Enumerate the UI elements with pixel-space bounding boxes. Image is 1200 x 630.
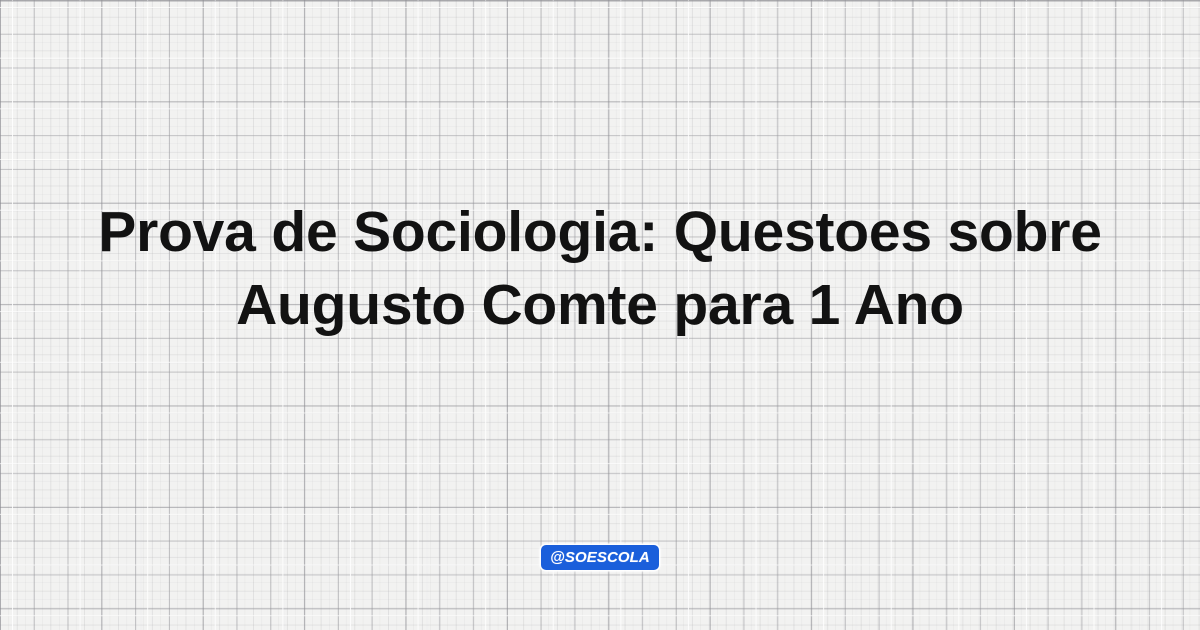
top-edge-rule	[0, 0, 1200, 2]
watermark-badge: @SOESCOLA	[541, 545, 659, 570]
page-title: Prova de Sociologia: Questoes sobre Augu…	[0, 196, 1200, 342]
cover-card: Prova de Sociologia: Questoes sobre Augu…	[0, 0, 1200, 630]
watermark-container: @SOESCOLA	[0, 545, 1200, 570]
page-title-line-1: Prova de Sociologia: Questoes sobre	[0, 196, 1200, 269]
page-title-line-2: Augusto Comte para 1 Ano	[0, 269, 1200, 342]
